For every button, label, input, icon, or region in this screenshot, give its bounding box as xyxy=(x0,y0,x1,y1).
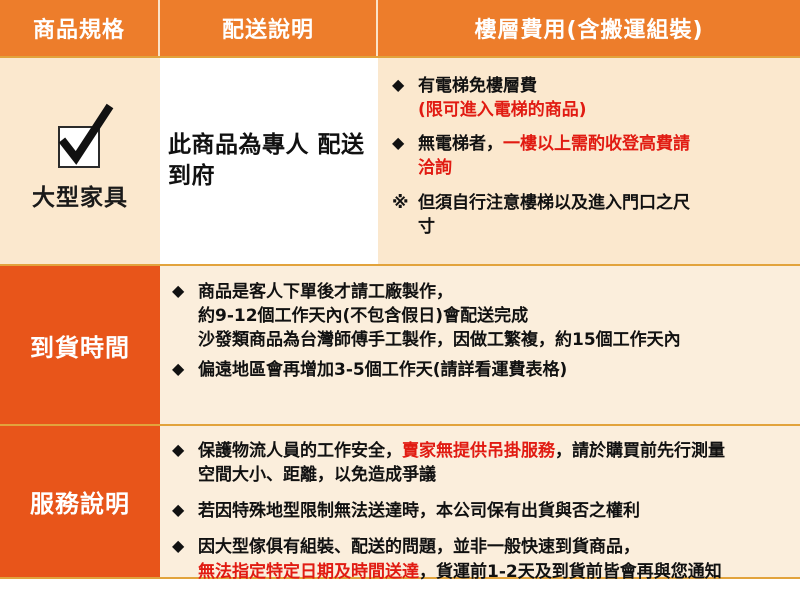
header-label-floor-fee: 樓層費用(含搬運組裝) xyxy=(474,12,703,44)
diamond-bullet-icon: ◆ xyxy=(172,358,198,381)
list-item-text: 偏遠地區會再增加3-5個工作天(請詳看運費表格) xyxy=(198,358,790,382)
list-item-text: 商品是客人下單後才請工廠製作，約9-12個工作天內(不包含假日)會配送完成沙發類… xyxy=(198,280,790,352)
list-item: ◆無電梯者，一樓以上需酌收登高費請洽詢 xyxy=(392,132,790,180)
text-segment: (限可進入電梯的商品) xyxy=(418,100,587,120)
text-segment: 無電梯者， xyxy=(418,134,503,154)
list-item-text: 若因特殊地型限制無法送達時，本公司保有出貨與否之權利 xyxy=(198,499,790,523)
text-line: 沙發類商品為台灣師傅手工製作，因做工繁複，約15個工作天內 xyxy=(198,328,790,352)
list-item-text: 保護物流人員的工作安全，賣家無提供吊掛服務，請於購買前先行測量空間大小、距離，以… xyxy=(198,439,790,487)
text-line: 寸 xyxy=(418,215,790,239)
text-segment: 賣家無提供吊掛服務 xyxy=(402,441,555,461)
table-row-service-note: 服務說明 ◆保護物流人員的工作安全，賣家無提供吊掛服務，請於購買前先行測量空間大… xyxy=(0,424,800,577)
text-line: 因大型傢俱有組裝、配送的問題，並非一般快速到貨商品， xyxy=(198,535,790,559)
text-line: 但須自行注意樓梯以及進入門口之尺 xyxy=(418,191,790,215)
diamond-bullet-icon: ◆ xyxy=(392,74,418,97)
delivery-note-line-1: 此商品為專人 xyxy=(168,132,309,158)
text-segment: 一樓以上需酌收登高費請 xyxy=(503,134,690,154)
reference-mark-icon: ※ xyxy=(392,191,418,215)
text-line: 有電梯免樓層費 xyxy=(418,74,790,98)
text-segment: 沙發類商品為台灣師傅手工製作，因做工繁複，約15個工作天內 xyxy=(198,330,681,350)
text-line: 保護物流人員的工作安全，賣家無提供吊掛服務，請於購買前先行測量 xyxy=(198,439,790,463)
text-line: 若因特殊地型限制無法送達時，本公司保有出貨與否之權利 xyxy=(198,499,790,523)
cell-service-note-label: 服務說明 xyxy=(0,426,160,577)
diamond-bullet-icon: ◆ xyxy=(392,132,418,155)
header-label-product-spec: 商品規格 xyxy=(33,12,125,44)
table-header-row: 商品規格 配送說明 樓層費用(含搬運組裝) xyxy=(0,0,800,56)
text-segment: 但須自行注意樓梯以及進入門口之尺 xyxy=(418,193,690,213)
diamond-bullet-icon: ◆ xyxy=(172,535,198,558)
list-item: ◆商品是客人下單後才請工廠製作，約9-12個工作天內(不包含假日)會配送完成沙發… xyxy=(172,280,790,352)
list-item: ◆保護物流人員的工作安全，賣家無提供吊掛服務，請於購買前先行測量空間大小、距離，… xyxy=(172,439,790,487)
diamond-bullet-icon: ◆ xyxy=(172,499,198,522)
list-item: ◆有電梯免樓層費(限可進入電梯的商品) xyxy=(392,74,790,122)
text-segment: ，貨運前1-2天及到貨前皆會再與您通知 xyxy=(419,562,722,582)
text-line: 無電梯者，一樓以上需酌收登高費請 xyxy=(418,132,790,156)
arrival-time-label: 到貨時間 xyxy=(30,328,130,363)
product-category-label: 大型家具 xyxy=(32,178,128,212)
checkbox-checked-icon xyxy=(52,110,108,166)
text-line: 偏遠地區會再增加3-5個工作天(請詳看運費表格) xyxy=(198,358,790,382)
table-row-arrival-time: 到貨時間 ◆商品是客人下單後才請工廠製作，約9-12個工作天內(不包含假日)會配… xyxy=(0,264,800,424)
header-cell-floor-fee: 樓層費用(含搬運組裝) xyxy=(378,0,800,56)
floor-fee-list: ◆有電梯免樓層費(限可進入電梯的商品)◆無電梯者，一樓以上需酌收登高費請洽詢※但… xyxy=(392,74,790,239)
list-item-text: 但須自行注意樓梯以及進入門口之尺寸 xyxy=(418,191,790,239)
arrival-time-list: ◆商品是客人下單後才請工廠製作，約9-12個工作天內(不包含假日)會配送完成沙發… xyxy=(172,280,790,383)
cell-arrival-time-label: 到貨時間 xyxy=(0,266,160,424)
delivery-note-text: 此商品為專人 配送到府 xyxy=(168,130,370,192)
cell-service-note-content: ◆保護物流人員的工作安全，賣家無提供吊掛服務，請於購買前先行測量空間大小、距離，… xyxy=(160,426,800,577)
list-item: ◆若因特殊地型限制無法送達時，本公司保有出貨與否之權利 xyxy=(172,499,790,523)
cell-delivery-note: 此商品為專人 配送到府 xyxy=(160,58,378,264)
shipping-info-table: 商品規格 配送說明 樓層費用(含搬運組裝) 大型家具 此商品為專人 配送到府 xyxy=(0,0,800,595)
header-cell-delivery-note: 配送說明 xyxy=(160,0,378,56)
text-segment: 寸 xyxy=(418,217,435,237)
list-item-text: 無電梯者，一樓以上需酌收登高費請洽詢 xyxy=(418,132,790,180)
text-line: 洽詢 xyxy=(418,156,790,180)
text-segment: 無法指定特定日期及時間送達 xyxy=(198,562,419,582)
service-note-label: 服務說明 xyxy=(30,484,130,519)
list-item: ◆偏遠地區會再增加3-5個工作天(請詳看運費表格) xyxy=(172,358,790,382)
list-item-text: 有電梯免樓層費(限可進入電梯的商品) xyxy=(418,74,790,122)
text-segment: 空間大小、距離，以免造成爭議 xyxy=(198,465,436,485)
text-segment: 偏遠地區會再增加3-5個工作天(請詳看運費表格) xyxy=(198,360,567,380)
list-item-text: 因大型傢俱有組裝、配送的問題，並非一般快速到貨商品，無法指定特定日期及時間送達，… xyxy=(198,535,790,583)
text-line: 約9-12個工作天內(不包含假日)會配送完成 xyxy=(198,304,790,328)
text-line: 空間大小、距離，以免造成爭議 xyxy=(198,463,790,487)
text-segment: 洽詢 xyxy=(418,158,452,178)
text-segment: ，請於購買前先行測量 xyxy=(555,441,725,461)
cell-product-category: 大型家具 xyxy=(0,58,160,264)
text-line: 無法指定特定日期及時間送達，貨運前1-2天及到貨前皆會再與您通知 xyxy=(198,560,790,584)
list-item: ※但須自行注意樓梯以及進入門口之尺寸 xyxy=(392,191,790,239)
text-segment: 商品是客人下單後才請工廠製作， xyxy=(198,282,453,302)
table-row-large-furniture: 大型家具 此商品為專人 配送到府 ◆有電梯免樓層費(限可進入電梯的商品)◆無電梯… xyxy=(0,56,800,264)
text-line: 商品是客人下單後才請工廠製作， xyxy=(198,280,790,304)
header-label-delivery-note: 配送說明 xyxy=(222,12,314,44)
text-line: (限可進入電梯的商品) xyxy=(418,98,790,122)
service-note-list: ◆保護物流人員的工作安全，賣家無提供吊掛服務，請於購買前先行測量空間大小、距離，… xyxy=(172,439,790,584)
text-segment: 因大型傢俱有組裝、配送的問題，並非一般快速到貨商品， xyxy=(198,537,640,557)
header-cell-product-spec: 商品規格 xyxy=(0,0,160,56)
text-segment: 若因特殊地型限制無法送達時，本公司保有出貨與否之權利 xyxy=(198,501,640,521)
cell-floor-fee: ◆有電梯免樓層費(限可進入電梯的商品)◆無電梯者，一樓以上需酌收登高費請洽詢※但… xyxy=(378,58,800,264)
text-segment: 保護物流人員的工作安全， xyxy=(198,441,402,461)
text-segment: 約9-12個工作天內(不包含假日)會配送完成 xyxy=(198,306,528,326)
diamond-bullet-icon: ◆ xyxy=(172,439,198,462)
diamond-bullet-icon: ◆ xyxy=(172,280,198,303)
text-segment: 有電梯免樓層費 xyxy=(418,76,537,96)
cell-arrival-time-content: ◆商品是客人下單後才請工廠製作，約9-12個工作天內(不包含假日)會配送完成沙發… xyxy=(160,266,800,424)
list-item: ◆因大型傢俱有組裝、配送的問題，並非一般快速到貨商品，無法指定特定日期及時間送達… xyxy=(172,535,790,583)
